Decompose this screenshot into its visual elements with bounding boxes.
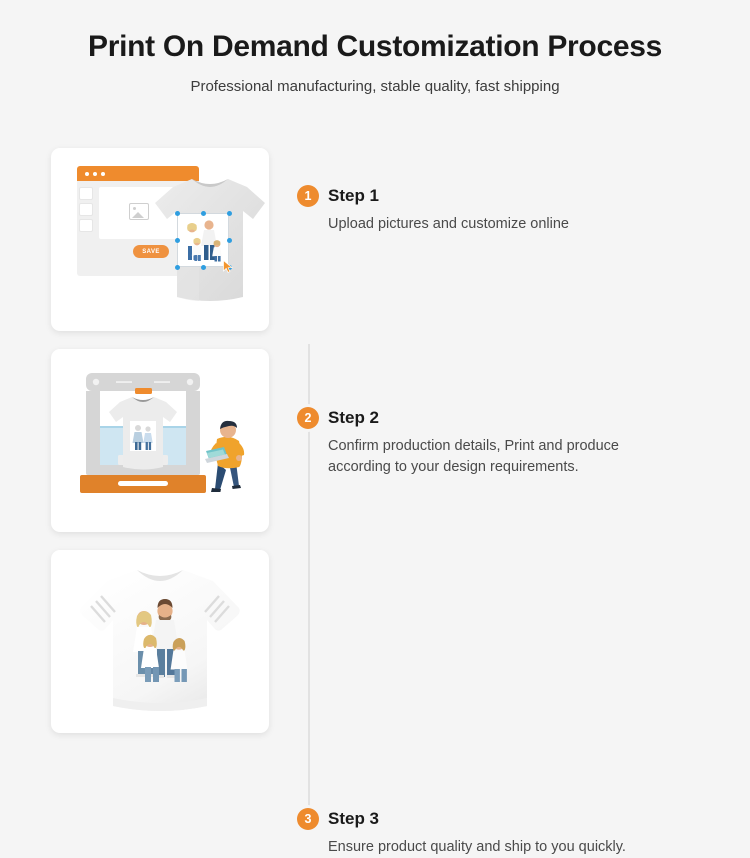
selection-bounding-box[interactable] xyxy=(177,213,229,267)
step-description: Confirm production details, Print and pr… xyxy=(328,436,728,478)
step-1-image-card[interactable]: SAVE xyxy=(51,148,269,331)
resize-handle-top-center[interactable] xyxy=(201,211,206,216)
step-1-text: 1 Step 1 Upload pictures and customize o… xyxy=(297,185,737,235)
resize-handle-middle-left[interactable] xyxy=(175,238,180,243)
step-row: 3 Step 3 Ensure product quality and ship… xyxy=(0,550,750,733)
step-row: 2 Step 2 Confirm production details, Pri… xyxy=(0,349,750,532)
browser-dot-icon xyxy=(101,172,105,176)
step-2-image-card[interactable] xyxy=(51,349,269,532)
printing-machine-illustration xyxy=(51,349,269,532)
resize-handle-top-right[interactable] xyxy=(227,211,232,216)
tshirt-in-machine-icon xyxy=(107,391,179,477)
browser-dot-icon xyxy=(85,172,89,176)
step-heading: 2 Step 2 xyxy=(297,407,737,429)
step-title: Step 3 xyxy=(328,809,379,829)
resize-handle-bottom-left[interactable] xyxy=(175,265,180,270)
sidebar-block xyxy=(79,187,93,200)
mouse-cursor-icon xyxy=(223,260,233,273)
finished-tshirt-illustration xyxy=(51,550,269,733)
resize-handle-top-left[interactable] xyxy=(175,211,180,216)
sidebar-block xyxy=(79,203,93,216)
image-placeholder-icon xyxy=(129,203,149,220)
page-title: Print On Demand Customization Process xyxy=(0,28,750,66)
resize-handle-bottom-center[interactable] xyxy=(201,265,206,270)
step-description-line-1: Confirm production details, Print and pr… xyxy=(328,436,728,457)
browser-dot-icon xyxy=(93,172,97,176)
header: Print On Demand Customization Process Pr… xyxy=(0,0,750,95)
step-3-image-card[interactable] xyxy=(51,550,269,733)
step-3-text: 3 Step 3 Ensure product quality and ship… xyxy=(297,808,737,858)
step-2-text: 2 Step 2 Confirm production details, Pri… xyxy=(297,407,737,478)
resize-handle-middle-right[interactable] xyxy=(227,238,232,243)
infographic-page: Print On Demand Customization Process Pr… xyxy=(0,0,750,750)
step-description-line-1: Ensure product quality and ship to you q… xyxy=(328,839,626,855)
worker-with-laptop-icon xyxy=(203,419,255,499)
sidebar-block xyxy=(79,219,93,232)
step-number-badge: 1 xyxy=(297,185,319,207)
step-heading: 3 Step 3 xyxy=(297,808,737,830)
step-number-badge: 3 xyxy=(297,808,319,830)
step-description: Upload pictures and customize online xyxy=(328,214,728,235)
step-title: Step 2 xyxy=(328,408,379,428)
page-subtitle: Professional manufacturing, stable quali… xyxy=(0,78,750,95)
step-description: Ensure product quality and ship to you q… xyxy=(328,837,728,858)
step-title: Step 1 xyxy=(328,186,379,206)
step-heading: 1 Step 1 xyxy=(297,185,737,207)
step-description-line-2: according to your design requirements. xyxy=(328,457,728,478)
step-description-line-1: Upload pictures and customize online xyxy=(328,216,569,232)
printed-family-photo xyxy=(123,596,199,682)
online-editor-illustration: SAVE xyxy=(51,148,269,331)
step-row: SAVE xyxy=(0,148,750,331)
step-number-badge: 2 xyxy=(297,407,319,429)
